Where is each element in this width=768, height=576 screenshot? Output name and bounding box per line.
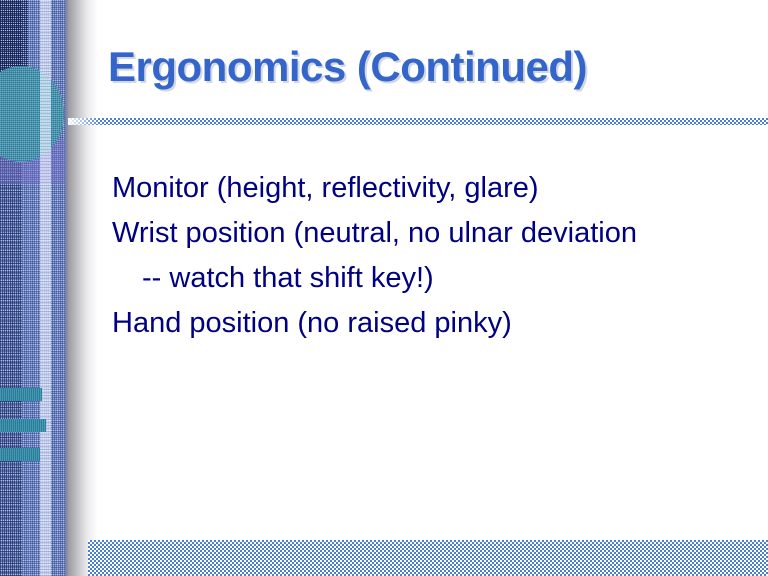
body-line: Hand position (no raised pinky) bbox=[112, 301, 752, 346]
body-line: Wrist position (neutral, no ulnar deviat… bbox=[112, 211, 752, 256]
band-teal-bar-1-texture bbox=[0, 388, 42, 401]
footer-decorative-bar bbox=[88, 540, 768, 576]
presentation-slide: Ergonomics (Continued) Monitor (height, … bbox=[0, 0, 768, 576]
title-divider-rule bbox=[68, 118, 768, 125]
slide-body: Monitor (height, reflectivity, glare) Wr… bbox=[112, 166, 752, 346]
band-teal-bar-3-texture bbox=[0, 448, 40, 461]
band-drop-shadow bbox=[68, 0, 98, 576]
body-line: -- watch that shift key!) bbox=[112, 256, 752, 301]
slide-title: Ergonomics (Continued) bbox=[108, 44, 756, 90]
left-decorative-band bbox=[0, 0, 68, 576]
band-teal-bar-2-texture bbox=[0, 419, 46, 432]
band-light-stripe-texture bbox=[40, 0, 51, 576]
body-line: Monitor (height, reflectivity, glare) bbox=[112, 166, 752, 211]
title-divider-rule-fade bbox=[68, 118, 102, 125]
